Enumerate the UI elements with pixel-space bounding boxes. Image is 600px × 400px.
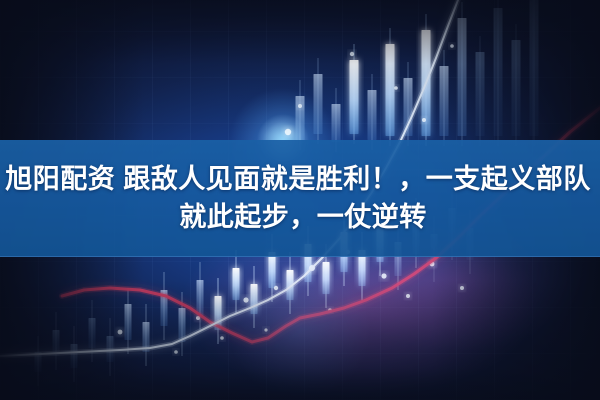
headline-line-1: 旭阳配资 跟敌人见面就是胜利！，一支起义部队 bbox=[5, 162, 595, 197]
banner-image: 旭阳配资 跟敌人见面就是胜利！，一支起义部队 就此起步，一仗逆转 bbox=[0, 0, 600, 400]
headline-text: 旭阳配资 跟敌人见面就是胜利！，一支起义部队 就此起步，一仗逆转 bbox=[0, 140, 600, 257]
candlestick-group-upper bbox=[296, 0, 539, 152]
headline-line-2: 就此起步，一仗逆转 bbox=[173, 200, 427, 235]
